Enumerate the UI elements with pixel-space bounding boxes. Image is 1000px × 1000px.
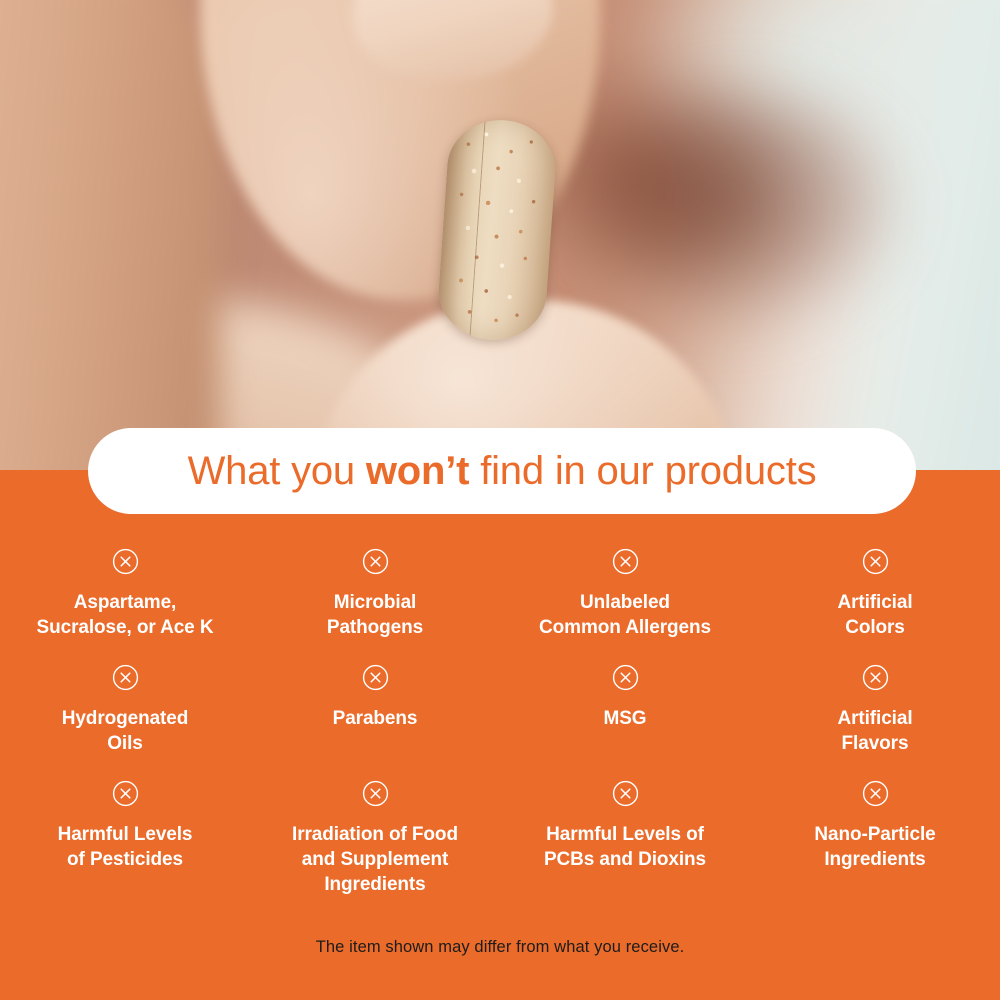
photo-bokeh-blob xyxy=(600,90,900,330)
claim-item: Artificial Colors xyxy=(750,548,1000,640)
claim-item: Harmful Levels of Pesticides xyxy=(0,780,250,872)
claim-item: Aspartame, Sucralose, or Ace K xyxy=(0,548,250,640)
claim-item: Microbial Pathogens xyxy=(250,548,500,640)
product-photo xyxy=(0,0,1000,472)
supplement-tablet xyxy=(435,117,558,344)
claim-item-label: Aspartame, Sucralose, or Ace K xyxy=(37,590,214,640)
claim-item-label: Nano-Particle Ingredients xyxy=(814,822,935,872)
circle-x-icon xyxy=(862,548,889,575)
claim-item: Harmful Levels of PCBs and Dioxins xyxy=(500,780,750,872)
claim-item-label: Harmful Levels of PCBs and Dioxins xyxy=(544,822,706,872)
title-pill: What you won’t find in our products xyxy=(88,428,916,514)
claim-item-label: Harmful Levels of Pesticides xyxy=(58,822,193,872)
product-claims-poster: What you won’t find in our products Aspa… xyxy=(0,0,1000,1000)
claim-item: MSG xyxy=(500,664,750,731)
claim-item: Unlabeled Common Allergens xyxy=(500,548,750,640)
circle-x-icon xyxy=(112,664,139,691)
claim-item-label: Artificial Flavors xyxy=(837,706,912,756)
circle-x-icon xyxy=(612,664,639,691)
claim-item-label: MSG xyxy=(604,706,647,731)
circle-x-icon xyxy=(612,548,639,575)
circle-x-icon xyxy=(112,548,139,575)
claim-item-label: Unlabeled Common Allergens xyxy=(539,590,711,640)
claims-grid: Aspartame, Sucralose, or Ace KMicrobial … xyxy=(0,548,1000,896)
blurred-finger-left xyxy=(0,0,220,472)
circle-x-icon xyxy=(862,780,889,807)
circle-x-icon xyxy=(362,780,389,807)
claim-item: Nano-Particle Ingredients xyxy=(750,780,1000,872)
circle-x-icon xyxy=(612,780,639,807)
disclaimer-text: The item shown may differ from what you … xyxy=(0,938,1000,957)
claim-item: Artificial Flavors xyxy=(750,664,1000,756)
circle-x-icon xyxy=(862,664,889,691)
claim-item-label: Irradiation of Food and Supplement Ingre… xyxy=(292,822,458,897)
claim-item: Parabens xyxy=(250,664,500,731)
claim-item: Irradiation of Food and Supplement Ingre… xyxy=(250,780,500,897)
claim-item-label: Parabens xyxy=(333,706,418,731)
page-title-emphasis: won’t xyxy=(366,449,469,493)
claim-item-label: Microbial Pathogens xyxy=(327,590,423,640)
page-title-suffix: find in our products xyxy=(469,449,816,493)
claim-item: Hydrogenated Oils xyxy=(0,664,250,756)
page-title: What you won’t find in our products xyxy=(188,449,817,494)
circle-x-icon xyxy=(362,548,389,575)
circle-x-icon xyxy=(362,664,389,691)
circle-x-icon xyxy=(112,780,139,807)
claim-item-label: Artificial Colors xyxy=(837,590,912,640)
claim-item-label: Hydrogenated Oils xyxy=(62,706,189,756)
page-title-prefix: What you xyxy=(188,449,366,493)
